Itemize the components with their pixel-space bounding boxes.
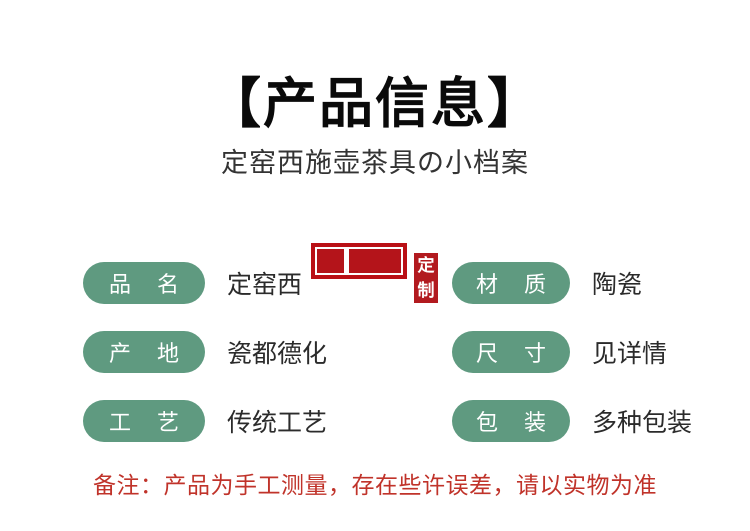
header: 【产品信息】 定窑西施壶茶具の小档案 xyxy=(0,0,750,178)
product-info-banner: 【产品信息】 定窑西施壶茶具の小档案 品 名 定窑西 材 质 陶瓷 产 地 瓷都… xyxy=(0,0,750,531)
spec-label-pill: 产 地 xyxy=(83,331,205,373)
spec-value: 多种包装 xyxy=(592,403,692,439)
redaction-block xyxy=(349,249,401,273)
spec-label-pill: 材 质 xyxy=(452,262,570,304)
spec-item-product-name: 品 名 定窑西 xyxy=(83,262,302,304)
spec-item-packaging: 包 装 多种包装 xyxy=(452,400,692,442)
spec-item-craft: 工 艺 传统工艺 xyxy=(83,400,327,442)
spec-value: 瓷都德化 xyxy=(227,334,327,370)
spec-value: 传统工艺 xyxy=(227,403,327,439)
spec-item-origin: 产 地 瓷都德化 xyxy=(83,331,327,373)
page-subtitle: 定窑西施壶茶具の小档案 xyxy=(0,133,750,179)
redaction-block xyxy=(317,249,344,273)
redaction-bar xyxy=(311,243,407,279)
spec-label-pill: 品 名 xyxy=(83,262,205,304)
custom-badge: 定 制 xyxy=(414,253,438,303)
spec-item-material: 材 质 陶瓷 xyxy=(452,262,642,304)
spec-label-pill: 工 艺 xyxy=(83,400,205,442)
footer-note: 备注：产品为手工测量，存在些许误差，请以实物为准 xyxy=(0,466,750,500)
spec-value: 定窑西 xyxy=(227,265,302,301)
spec-item-size: 尺 寸 见详情 xyxy=(452,331,667,373)
page-title: 【产品信息】 xyxy=(0,0,750,133)
spec-value: 见详情 xyxy=(592,334,667,370)
spec-label-pill: 包 装 xyxy=(452,400,570,442)
spec-row: 工 艺 传统工艺 包 装 多种包装 xyxy=(0,381,750,450)
custom-badge-char-bottom: 制 xyxy=(418,278,435,303)
custom-badge-char-top: 定 xyxy=(418,253,435,278)
spec-value: 陶瓷 xyxy=(592,265,642,301)
spec-label-pill: 尺 寸 xyxy=(452,331,570,373)
spec-row: 产 地 瓷都德化 尺 寸 见详情 xyxy=(0,312,750,381)
